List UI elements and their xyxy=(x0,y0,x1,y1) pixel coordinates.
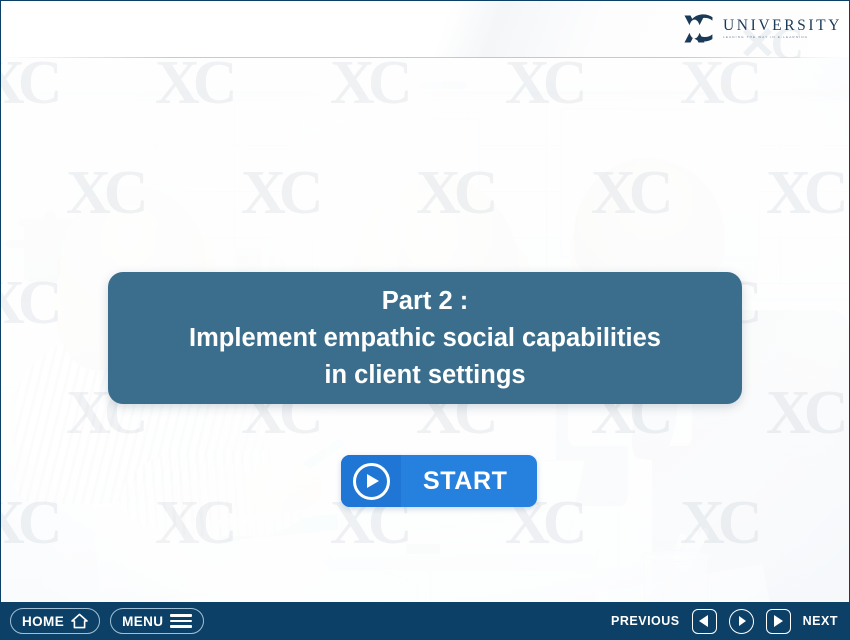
header-divider xyxy=(0,57,850,58)
logo-tagline: LEADING THE WAY IN E-LEARNING xyxy=(723,36,842,39)
xc-monogram-icon xyxy=(682,12,720,46)
play-circle-icon xyxy=(341,455,401,507)
photo-pot-handle xyxy=(6,240,26,248)
title-line-3: in client settings xyxy=(324,357,525,394)
photo-glass-cup-rim xyxy=(640,550,712,562)
title-line-1: Part 2 : xyxy=(382,283,468,320)
previous-button[interactable] xyxy=(692,609,717,634)
photo-pot-knob xyxy=(44,211,56,220)
next-triangle-icon xyxy=(774,615,783,627)
logo-wordmark: UNIVERSITY xyxy=(723,18,842,34)
menu-button[interactable]: MENU xyxy=(110,608,204,634)
title-line-2: Implement empathic social capabilities xyxy=(189,320,661,357)
next-button[interactable] xyxy=(766,609,791,634)
nav-left-group: HOME MENU xyxy=(10,608,204,634)
photo-person-left-hand xyxy=(248,462,322,512)
hamburger-icon xyxy=(170,614,192,628)
university-logo[interactable]: UNIVERSITY LEADING THE WAY IN E-LEARNING xyxy=(682,9,842,49)
start-button[interactable]: START xyxy=(341,455,537,507)
home-icon xyxy=(71,613,88,629)
photo-blue-accent xyxy=(420,82,466,89)
prev-triangle-icon xyxy=(699,615,708,627)
bottom-navigation-bar: HOME MENU PREVIOUS xyxy=(0,602,850,640)
course-slide-stage: ✕C UNIVERSITY LEADING THE WAY IN E-LEARN… xyxy=(0,0,850,640)
header-bar: ✕C UNIVERSITY LEADING THE WAY IN E-LEARN… xyxy=(0,0,850,58)
slide-title-panel: Part 2 : Implement empathic social capab… xyxy=(108,272,742,404)
home-button-label: HOME xyxy=(22,614,64,629)
start-button-label: START xyxy=(423,467,507,496)
photo-green-marker xyxy=(406,544,440,554)
logo-wordblock: UNIVERSITY LEADING THE WAY IN E-LEARNING xyxy=(723,18,842,39)
menu-button-label: MENU xyxy=(122,614,163,629)
photo-cabinet-shadow xyxy=(0,92,850,99)
photo-laptop-base xyxy=(328,544,599,566)
play-circle-ring xyxy=(353,463,390,500)
previous-label[interactable]: PREVIOUS xyxy=(611,614,680,628)
play-triangle-icon xyxy=(367,474,379,488)
play-icon xyxy=(739,616,746,626)
play-pause-button[interactable] xyxy=(729,609,754,634)
home-button[interactable]: HOME xyxy=(10,608,100,634)
nav-right-group: PREVIOUS NEXT xyxy=(611,609,838,634)
next-label[interactable]: NEXT xyxy=(803,614,838,628)
